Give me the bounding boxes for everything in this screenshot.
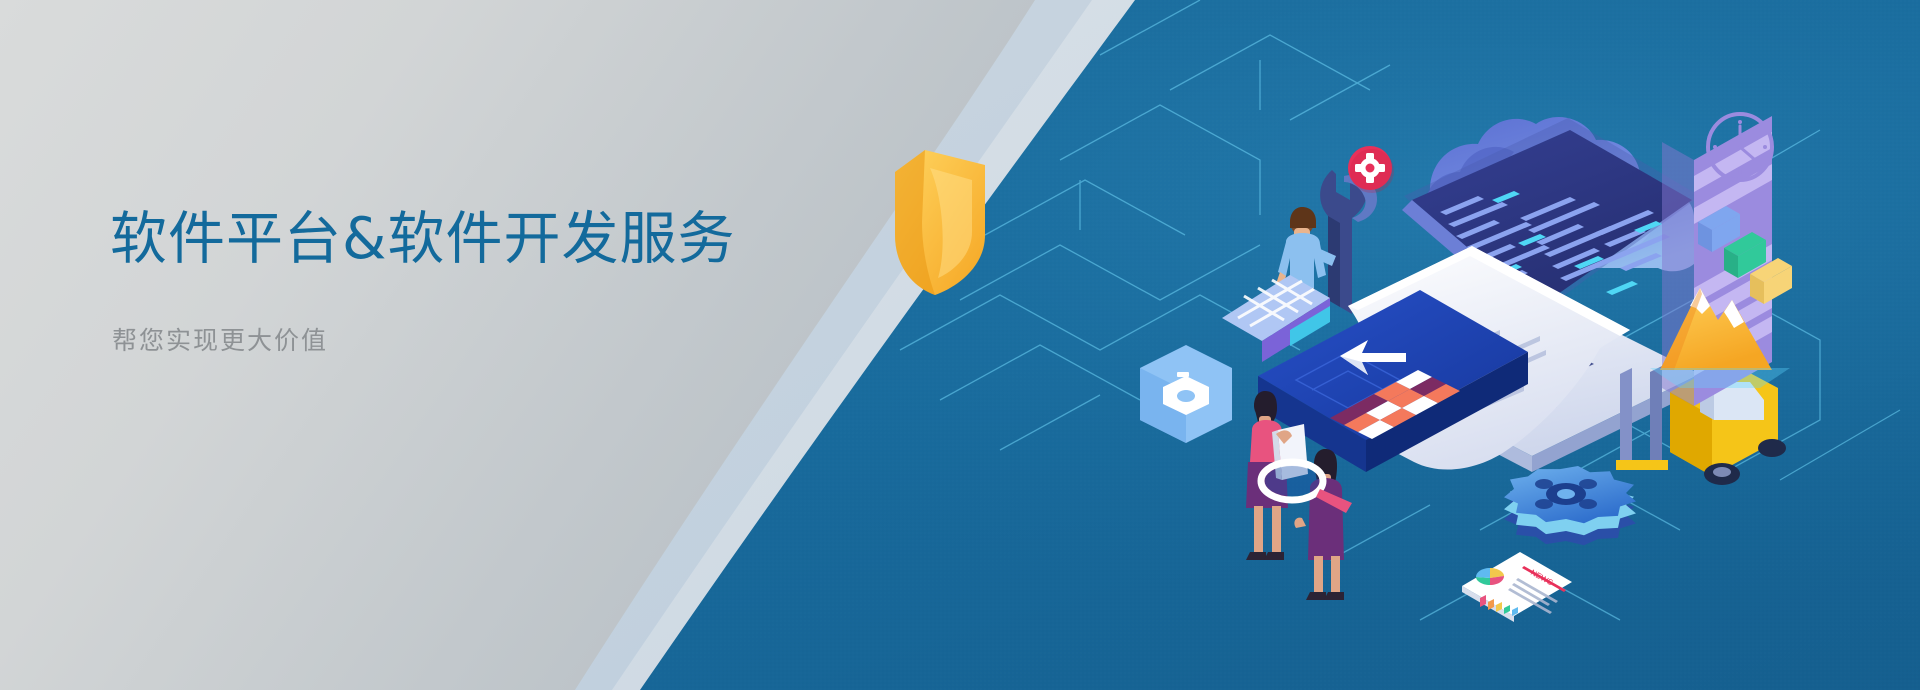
camera-icon bbox=[1140, 345, 1232, 443]
hero-banner: NEWS 软件平台&软件开发服务 帮您实现更大价值 bbox=[0, 0, 1920, 690]
gear-large-icon bbox=[1504, 466, 1636, 545]
shield-icon bbox=[895, 150, 985, 295]
pie-chart-icon bbox=[1476, 568, 1504, 585]
isometric-illustration: NEWS bbox=[0, 0, 1920, 690]
news-report-card: NEWS bbox=[1462, 552, 1572, 622]
